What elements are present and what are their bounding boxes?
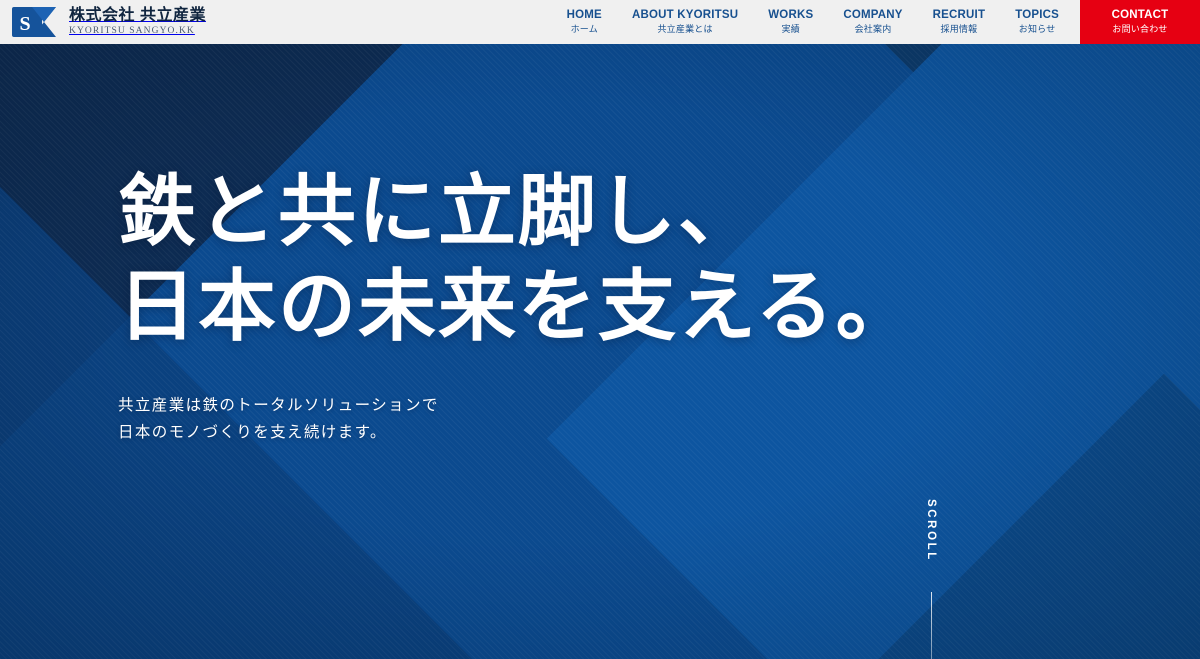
nav-item-contact[interactable]: CONTACT お問い合わせ xyxy=(1080,0,1200,44)
svg-text:S: S xyxy=(19,13,30,35)
scroll-label: SCROLL xyxy=(925,499,937,562)
nav-item-recruit[interactable]: RECRUIT 採用情報 xyxy=(918,0,1001,44)
nav-label-en: ABOUT KYORITSU xyxy=(632,10,738,22)
nav-label-en: CONTACT xyxy=(1112,10,1169,22)
brand-name-ja: 株式会社 共立産業 xyxy=(69,8,206,24)
nav-item-topics[interactable]: TOPICS お知らせ xyxy=(1000,0,1074,44)
hero-subtitle-line2: 日本のモノづくりを支え続けます。 xyxy=(118,419,916,446)
hero-headline-line2: 日本の未来を支える。 xyxy=(118,259,916,354)
brand-logo-link[interactable]: S 株式会社 共立産業 KYORITSU SANGYO.KK xyxy=(0,0,206,44)
nav-item-company[interactable]: COMPANY 会社案内 xyxy=(828,0,917,44)
nav-item-home[interactable]: HOME ホーム xyxy=(552,0,617,44)
sk-monogram-logo-icon: S xyxy=(12,5,60,39)
nav-label-ja: 共立産業とは xyxy=(657,25,712,34)
brand-name-en: KYORITSU SANGYO.KK xyxy=(69,27,206,37)
nav-label-en: COMPANY xyxy=(843,10,902,22)
hero-copy: 鉄と共に立脚し、 日本の未来を支える。 共立産業は鉄のトータルソリューションで … xyxy=(118,164,916,447)
nav-label-ja: ホーム xyxy=(571,25,598,34)
site-header: S 株式会社 共立産業 KYORITSU SANGYO.KK HOME ホーム … xyxy=(0,0,1200,44)
hero-subtitle-line1: 共立産業は鉄のトータルソリューションで xyxy=(118,392,916,419)
hero-subtitle: 共立産業は鉄のトータルソリューションで 日本のモノづくりを支え続けます。 xyxy=(118,392,916,446)
scroll-indicator[interactable]: SCROLL xyxy=(925,499,937,659)
hero-headline-line1: 鉄と共に立脚し、 xyxy=(118,164,916,259)
nav-label-ja: 採用情報 xyxy=(941,25,978,34)
nav-item-works[interactable]: WORKS 実績 xyxy=(753,0,828,44)
nav-label-en: TOPICS xyxy=(1015,10,1059,22)
scroll-line xyxy=(931,592,932,659)
hero-section: 鉄と共に立脚し、 日本の未来を支える。 共立産業は鉄のトータルソリューションで … xyxy=(0,44,1200,659)
nav-label-ja: 会社案内 xyxy=(855,25,892,34)
nav-label-en: RECRUIT xyxy=(933,10,986,22)
nav-item-about[interactable]: ABOUT KYORITSU 共立産業とは xyxy=(617,0,753,44)
brand-text: 株式会社 共立産業 KYORITSU SANGYO.KK xyxy=(69,8,206,37)
nav-label-ja: お知らせ xyxy=(1019,25,1056,34)
nav-label-ja: 実績 xyxy=(782,25,800,34)
nav-label-ja: お問い合わせ xyxy=(1112,25,1167,34)
main-navigation: HOME ホーム ABOUT KYORITSU 共立産業とは WORKS 実績 … xyxy=(552,0,1200,44)
nav-label-en: HOME xyxy=(567,10,602,22)
nav-label-en: WORKS xyxy=(768,10,813,22)
